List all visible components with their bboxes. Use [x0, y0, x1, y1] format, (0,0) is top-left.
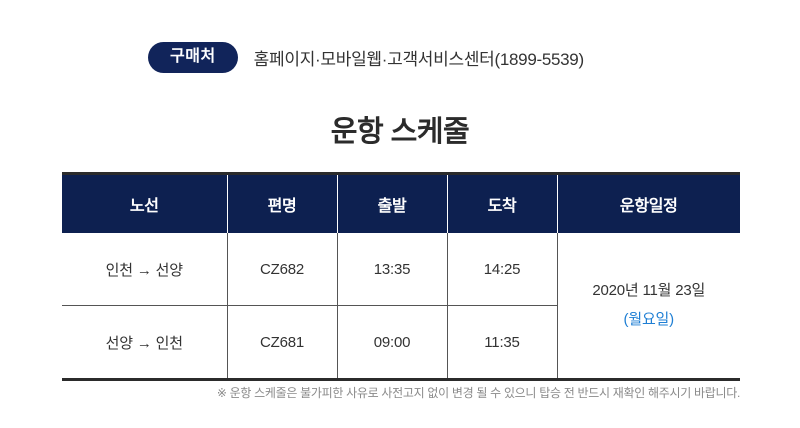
table-row: 인천 → 선양 CZ682 13:35 14:25 2020년 11월 23일 …: [62, 233, 740, 306]
flight-schedule-table: 노선 편명 출발 도착 운항일정 인천 → 선양 CZ682 13:35 14:…: [62, 172, 740, 381]
column-header-arrival: 도착: [447, 174, 557, 234]
column-header-schedule: 운항일정: [557, 174, 740, 234]
cell-flight: CZ681: [227, 306, 337, 380]
schedule-date: 2020년 11월 23일: [559, 277, 740, 306]
cell-departure: 09:00: [337, 306, 447, 380]
cell-arrival: 11:35: [447, 306, 557, 380]
purchase-badge: 구매처: [148, 42, 238, 73]
cell-route: 선양 → 인천: [62, 306, 227, 380]
column-header-flight: 편명: [227, 174, 337, 234]
cell-route: 인천 → 선양: [62, 233, 227, 306]
schedule-table-container: 노선 편명 출발 도착 운항일정 인천 → 선양 CZ682 13:35 14:…: [62, 172, 740, 381]
schedule-disclaimer-note: ※ 운항 스케줄은 불가피한 사유로 사전고지 없이 변경 될 수 있으니 탑승…: [0, 384, 740, 401]
purchase-channel-row: 구매처 홈페이지·모바일웹·고객서비스센터(1899-5539): [148, 42, 584, 73]
page-title: 운항 스케줄: [0, 108, 800, 150]
column-header-departure: 출발: [337, 174, 447, 234]
purchase-channels-text: 홈페이지·모바일웹·고객서비스센터(1899-5539): [254, 45, 584, 70]
cell-schedule: 2020년 11월 23일 (월요일): [557, 233, 740, 380]
flight-schedule-page: 구매처 홈페이지·모바일웹·고객서비스센터(1899-5539) 운항 스케줄 …: [0, 0, 800, 428]
column-header-route: 노선: [62, 174, 227, 234]
cell-flight: CZ682: [227, 233, 337, 306]
cell-departure: 13:35: [337, 233, 447, 306]
cell-arrival: 14:25: [447, 233, 557, 306]
schedule-day-of-week: (월요일): [559, 306, 740, 335]
table-header-row: 노선 편명 출발 도착 운항일정: [62, 174, 740, 234]
